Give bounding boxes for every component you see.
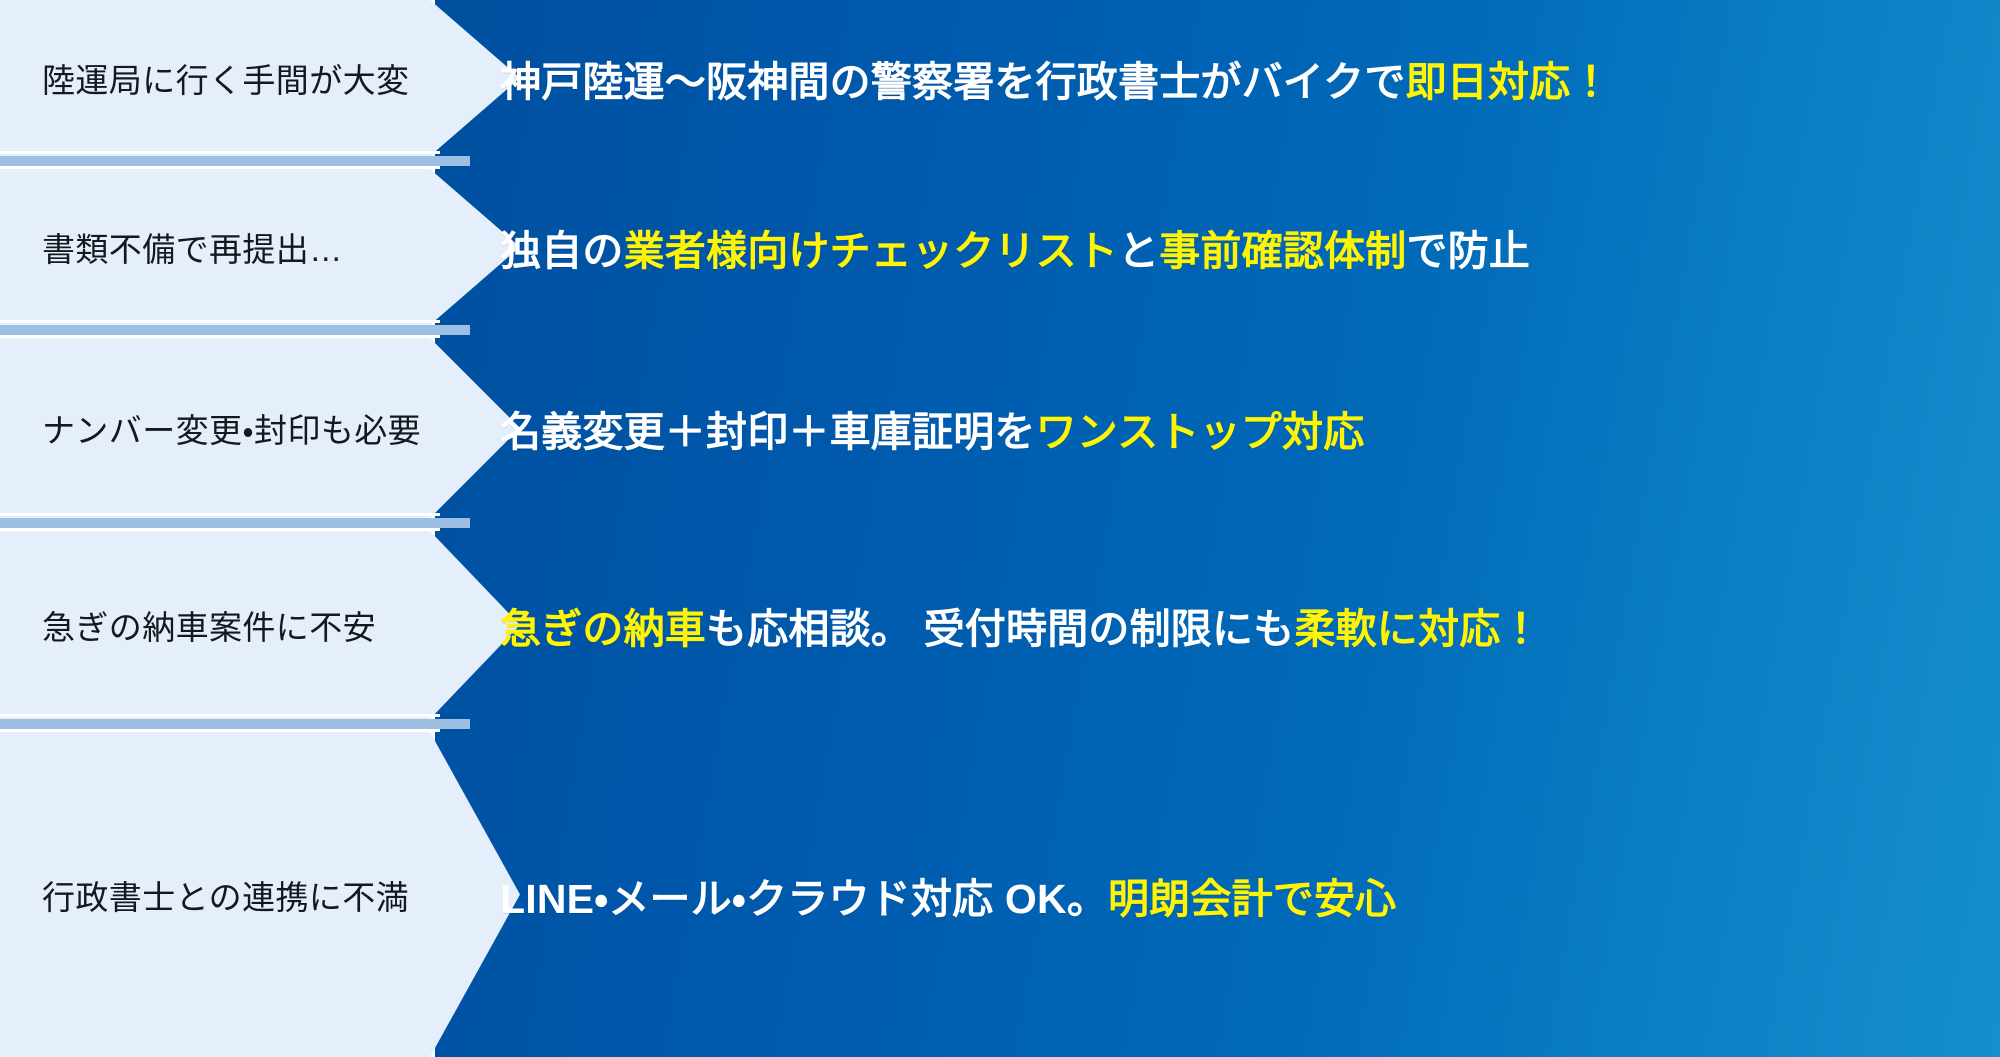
problem-label-5: 行政書士との連携に不満 [42,732,409,1057]
row-divider-1 [0,156,470,166]
row-gapline-2-top [0,320,440,323]
solution-label-3: 名義変更＋封印＋車庫証明をワンストップ対応 [500,338,1364,518]
solution-plain-text: 独自の [500,217,624,277]
solution-plain-text: LINE・メール・クラウド対応 OK。 [500,865,1108,925]
row-gapline-4-top [0,714,440,717]
solution-plain-text: 名義変更＋封印＋車庫証明を [500,398,1036,458]
solution-label-1: 神戸陸運〜阪神間の警察署を行政書士がバイクで即日対応！ [500,0,1612,156]
problem-label-1: 陸運局に行く手間が大変 [42,0,409,156]
row-gapline-1-bottom [0,166,440,169]
solution-highlight-text: 明朗会計で安心 [1108,865,1396,925]
row-gapline-4-bottom [0,729,440,732]
comparison-board: 陸運局に行く手間が大変 神戸陸運〜阪神間の警察署を行政書士がバイクで即日対応！ … [0,0,2000,1057]
row-1: 陸運局に行く手間が大変 神戸陸運〜阪神間の警察署を行政書士がバイクで即日対応！ [0,0,2000,156]
solution-label-2: 独自の業者様向けチェックリストと事前確認体制で防止 [500,169,1530,325]
solution-highlight-text: 事前確認体制 [1159,217,1406,277]
solution-plain-text: 神戸陸運〜阪神間の警察署を行政書士がバイクで [500,48,1406,108]
solution-label-4: 急ぎの納車も応相談。 受付時間の制限にも柔軟に対応！ [500,531,1542,719]
row-2: 書類不備で再提出… 独自の業者様向けチェックリストと事前確認体制で防止 [0,169,2000,325]
problem-label-2: 書類不備で再提出… [42,169,343,325]
row-divider-4 [0,719,470,729]
problem-label-4: 急ぎの納車案件に不安 [42,531,376,719]
solution-highlight-text: 柔軟に対応！ [1294,595,1541,655]
row-divider-3 [0,518,470,528]
solution-highlight-text: 急ぎの納車 [500,595,706,655]
row-gapline-3-top [0,513,440,516]
solution-highlight-text: 即日対応！ [1406,48,1612,108]
solution-label-5: LINE・メール・クラウド対応 OK。 明朗会計で安心 [500,732,1396,1057]
row-divider-2 [0,325,470,335]
solution-plain-text: も応相談。 受付時間の制限にも [706,595,1294,655]
row-4: 急ぎの納車案件に不安 急ぎの納車も応相談。 受付時間の制限にも柔軟に対応！ [0,531,2000,719]
row-5: 行政書士との連携に不満 LINE・メール・クラウド対応 OK。 明朗会計で安心 [0,732,2000,1057]
row-gapline-1-top [0,151,440,154]
row-gapline-3-bottom [0,528,440,531]
solution-plain-text: と [1118,217,1159,277]
solution-highlight-text: ワンストップ対応 [1036,398,1365,458]
problem-label-3: ナンバー変更・封印も必要 [42,338,421,518]
solution-plain-text: で防止 [1406,217,1530,277]
solution-highlight-text: 業者様向けチェックリスト [624,217,1118,277]
row-gapline-2-bottom [0,335,440,338]
row-3: ナンバー変更・封印も必要 名義変更＋封印＋車庫証明をワンストップ対応 [0,338,2000,518]
